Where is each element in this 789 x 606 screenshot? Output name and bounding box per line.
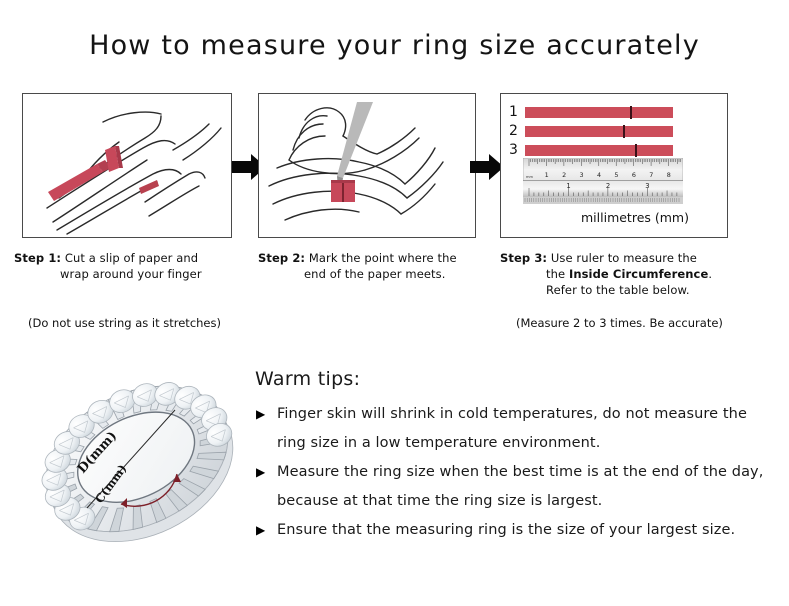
- svg-text:4: 4: [597, 171, 601, 179]
- strip-number-1: 1: [509, 104, 525, 120]
- svg-text:6: 6: [632, 171, 636, 179]
- step-3-note: (Measure 2 to 3 times. Be accurate): [516, 316, 723, 330]
- step-3-illustration-panel: 1 2 3: [500, 93, 728, 238]
- ring-size-guide-page: How to measure your ring size accurately: [0, 0, 789, 606]
- warm-tips-list: ▶Finger skin will shrink in cold tempera…: [255, 400, 765, 545]
- step-3-label: Step 3:: [500, 251, 547, 265]
- svg-text:7: 7: [649, 171, 653, 179]
- paper-strip-1: [525, 107, 673, 118]
- svg-text:5: 5: [614, 171, 618, 179]
- mm-unit-marker: mm: [526, 175, 534, 179]
- eternity-ring-icon: D(mm) C(mm): [25, 352, 250, 567]
- strip-tick-mark-1: [630, 106, 632, 119]
- step-2-caption: Step 2: Mark the point where the end of …: [258, 250, 494, 282]
- svg-text:3: 3: [645, 182, 649, 190]
- step-3-caption: Step 3: Use ruler to measure the the Ins…: [500, 250, 750, 298]
- hand-marking-paper-icon: [259, 94, 474, 236]
- strip-number-2: 2: [509, 123, 525, 139]
- paper-strip-3: [525, 145, 673, 156]
- step-1-line1: Cut a slip of paper and: [65, 251, 198, 265]
- step-3-line2-suffix: .: [708, 267, 712, 281]
- paper-strip-shape: [331, 180, 355, 202]
- step-1-line2: wrap around your finger: [14, 266, 254, 282]
- step-2-line1: Mark the point where the: [309, 251, 457, 265]
- step-3-line2-prefix: the: [546, 267, 569, 281]
- hand-with-paper-strip-icon: [23, 94, 230, 236]
- svg-text:1: 1: [545, 171, 549, 179]
- measured-strip-row-3: 3: [509, 142, 673, 158]
- measured-strip-row-1: 1: [509, 104, 673, 120]
- svg-text:2: 2: [562, 171, 566, 179]
- warm-tips-heading: Warm tips:: [255, 368, 360, 390]
- step-3-line1: Use ruler to measure the: [551, 251, 697, 265]
- step-2-line2: end of the paper meets.: [258, 266, 494, 282]
- bullet-triangle-icon: ▶: [256, 516, 265, 545]
- paper-strip-2: [525, 126, 673, 137]
- svg-text:1: 1: [566, 182, 570, 190]
- svg-text:2: 2: [606, 182, 610, 190]
- step-1-caption: Step 1: Cut a slip of paper and wrap aro…: [14, 250, 254, 282]
- warm-tip-text: Measure the ring size when the best time…: [277, 464, 763, 509]
- inside-circumference-emphasis: Inside Circumference: [569, 267, 708, 281]
- warm-tip-text: Finger skin will shrink in cold temperat…: [277, 406, 747, 451]
- strip-tick-mark-3: [635, 144, 637, 157]
- bullet-triangle-icon: ▶: [256, 458, 265, 487]
- warm-tip-item: ▶Measure the ring size when the best tim…: [255, 458, 765, 516]
- step-2-label: Step 2:: [258, 251, 305, 265]
- measured-strip-row-2: 2: [509, 123, 673, 139]
- page-title: How to measure your ring size accurately: [0, 30, 789, 61]
- step-1-note: (Do not use string as it stretches): [28, 316, 221, 330]
- ruler-image: 12345678 mm 123: [523, 158, 683, 208]
- ring-diagram: D(mm) C(mm): [25, 352, 250, 567]
- step-3-line3: Refer to the table below.: [500, 282, 750, 298]
- unit-caption: millimetres (mm): [581, 210, 689, 225]
- svg-text:8: 8: [667, 171, 671, 179]
- warm-tip-item: ▶Finger skin will shrink in cold tempera…: [255, 400, 765, 458]
- warm-tip-item: ▶Ensure that the measuring ring is the s…: [255, 516, 765, 545]
- strip-number-3: 3: [509, 142, 525, 158]
- step-1-illustration-panel: [22, 93, 232, 238]
- warm-tip-text: Ensure that the measuring ring is the si…: [277, 522, 735, 538]
- step-2-illustration-panel: [258, 93, 476, 238]
- step-1-label: Step 1:: [14, 251, 61, 265]
- bullet-triangle-icon: ▶: [256, 400, 265, 429]
- step-3-line2: the Inside Circumference.: [500, 266, 750, 282]
- svg-text:3: 3: [580, 171, 584, 179]
- strip-tick-mark-2: [623, 125, 625, 138]
